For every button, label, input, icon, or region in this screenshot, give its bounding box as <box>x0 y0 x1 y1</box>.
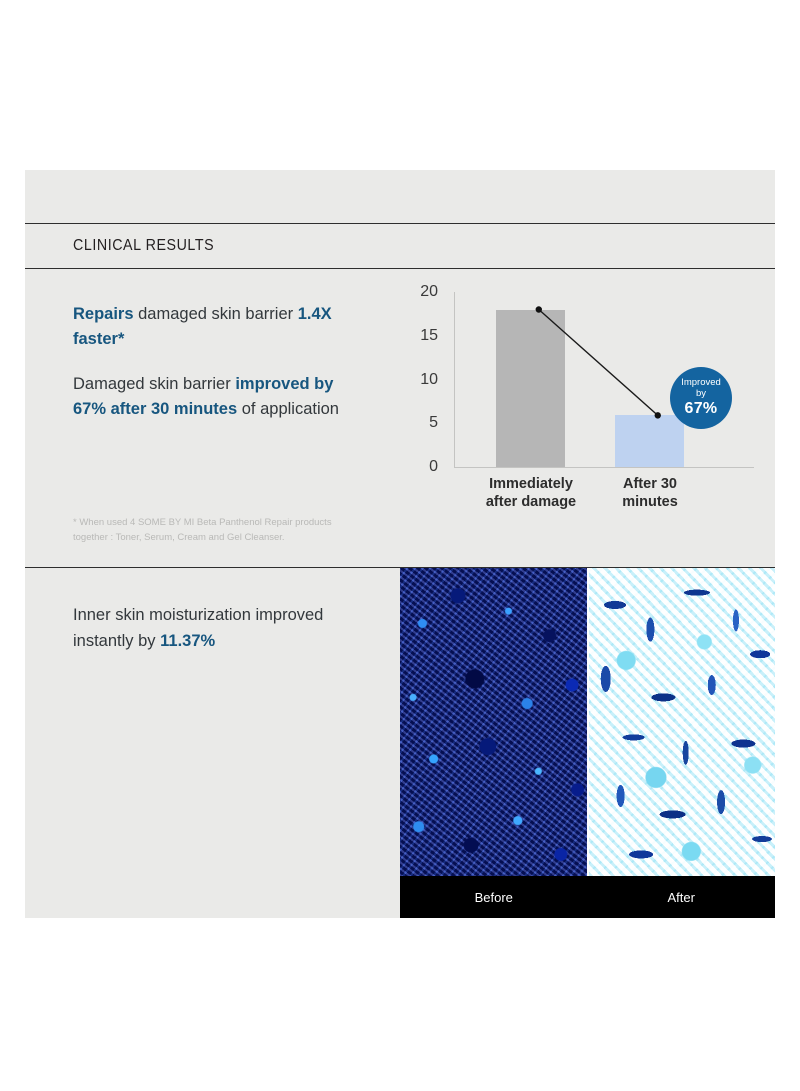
micrograph-comparison: Before After <box>400 568 775 918</box>
micrograph-before-texture <box>400 568 587 876</box>
status-badge: Improved by 67% <box>670 367 732 429</box>
claim-repair-speed-text: damaged skin barrier <box>134 305 298 323</box>
barrier-repair-section: Repairs damaged skin barrier 1.4X faster… <box>25 269 775 567</box>
barrier-repair-copy: Repairs damaged skin barrier 1.4X faster… <box>25 269 400 567</box>
micrograph-images-row <box>400 568 775 876</box>
bar-chart: 20 15 10 5 0 Improved by 67% <box>412 289 762 549</box>
x-axis-category-label: After 30 minutes <box>597 475 703 511</box>
badge-line-2: by <box>696 389 706 400</box>
x-axis-category-label-line: minutes <box>597 493 703 511</box>
page-title: CLINICAL RESULTS <box>73 237 214 255</box>
barrier-chart-panel: 20 15 10 5 0 Improved by 67% <box>400 269 775 567</box>
clinical-results-header: CLINICAL RESULTS <box>25 224 775 268</box>
card-top-spacer <box>25 170 775 223</box>
y-axis-tick-label: 5 <box>398 414 438 432</box>
clinical-results-card: CLINICAL RESULTS Repairs damaged skin ba… <box>25 170 775 918</box>
moisturization-copy: Inner skin moisturization improved insta… <box>25 568 400 918</box>
moisturization-section: Inner skin moisturization improved insta… <box>25 568 775 918</box>
y-axis-tick-label: 0 <box>398 458 438 476</box>
micrograph-after-label: After <box>588 876 776 918</box>
bar-immediately-after-damage <box>496 310 565 468</box>
micrograph-after-texture <box>589 568 775 876</box>
claim-barrier-improvement-text-1: Damaged skin barrier <box>73 375 235 393</box>
y-axis-tick-label: 10 <box>398 371 438 389</box>
x-axis-category-label-line: after damage <box>460 493 602 511</box>
micrograph-caption-bar: Before After <box>400 876 775 918</box>
x-axis-category-label: Immediately after damage <box>460 475 602 511</box>
x-axis-category-label-line: After 30 <box>597 475 703 493</box>
claim-barrier-improvement-text-2: of application <box>237 400 339 418</box>
bar-after-30-minutes <box>615 415 684 467</box>
claim-moisturization: Inner skin moisturization improved insta… <box>73 602 363 654</box>
x-axis-category-label-line: Immediately <box>460 475 602 493</box>
badge-line-3: 67% <box>685 400 718 418</box>
micrograph-before-image <box>400 568 587 876</box>
claim-repair-speed: Repairs damaged skin barrier 1.4X faster… <box>73 302 358 352</box>
claim-barrier-improvement: Damaged skin barrier improved by 67% aft… <box>73 372 358 422</box>
micrograph-before-label: Before <box>400 876 588 918</box>
claim-repair-speed-accent-1: Repairs <box>73 305 134 323</box>
x-axis-line <box>454 467 754 468</box>
claim-moisturization-accent: 11.37% <box>160 632 215 650</box>
y-axis-line <box>454 292 455 467</box>
y-axis-tick-label: 20 <box>398 283 438 301</box>
y-axis-tick-label: 15 <box>398 327 438 345</box>
footnote-text: * When used 4 SOME BY MI Beta Panthenol … <box>73 516 358 545</box>
micrograph-after-image <box>589 568 775 876</box>
